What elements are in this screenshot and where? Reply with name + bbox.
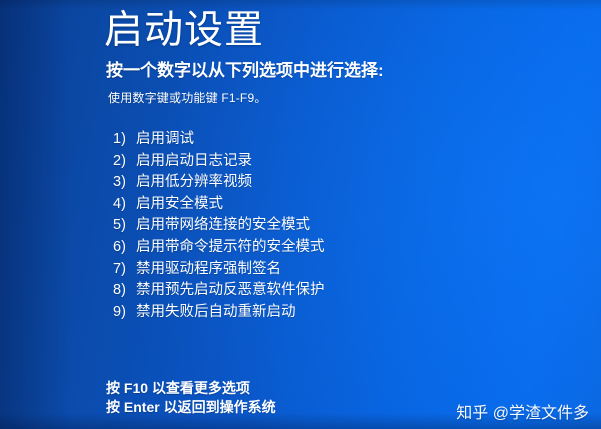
option-item-3[interactable]: 3) 启用低分辨率视频 [113,170,325,192]
option-key-5: 5) [113,217,133,233]
option-label-8: 禁用预先启动反恶意软件保护 [136,278,325,299]
option-label-5: 启用带网络连接的安全模式 [136,213,310,234]
option-item-8[interactable]: 8) 禁用预先启动反恶意软件保护 [113,278,325,300]
option-label-6: 启用带命令提示符的安全模式 [136,235,325,256]
option-item-2[interactable]: 2) 启用启动日志记录 [113,149,325,171]
option-label-2: 启用启动日志记录 [136,149,252,170]
more-options-action[interactable]: 按 F10 以查看更多选项 [106,379,276,398]
option-key-4: 4) [113,196,133,212]
instruction-subtitle: 按一个数字以从下列选项中进行选择: [106,60,384,82]
screen-content: 启动设置 按一个数字以从下列选项中进行选择: 使用数字键或功能键 F1-F9。 … [0,0,601,429]
option-key-1: 1) [113,131,133,147]
option-key-8: 8) [113,282,133,298]
option-key-2: 2) [113,153,133,169]
option-key-7: 7) [113,261,133,277]
option-item-1[interactable]: 1) 启用调试 [113,127,325,149]
option-item-9[interactable]: 9) 禁用失败后自动重新启动 [113,300,325,322]
option-key-3: 3) [113,174,133,190]
option-item-6[interactable]: 6) 启用带命令提示符的安全模式 [113,235,325,257]
option-label-4: 启用安全模式 [136,192,223,213]
option-key-6: 6) [113,239,133,255]
option-key-9: 9) [113,304,133,320]
option-label-1: 启用调试 [136,127,194,148]
startup-settings-screen: 启动设置 按一个数字以从下列选项中进行选择: 使用数字键或功能键 F1-F9。 … [0,0,601,429]
watermark-text: 知乎 @学渣文件多 [456,399,589,423]
return-to-os-action[interactable]: 按 Enter 以返回到操作系统 [106,398,276,417]
option-item-4[interactable]: 4) 启用安全模式 [113,192,325,214]
option-label-7: 禁用驱动程序强制签名 [136,257,281,278]
startup-options-list: 1) 启用调试 2) 启用启动日志记录 3) 启用低分辨率视频 4) 启用安全模… [113,127,325,321]
option-item-5[interactable]: 5) 启用带网络连接的安全模式 [113,213,325,235]
footer-actions: 按 F10 以查看更多选项 按 Enter 以返回到操作系统 [106,379,276,417]
option-label-3: 启用低分辨率视频 [136,170,252,191]
keyboard-hint-text: 使用数字键或功能键 F1-F9。 [108,90,267,106]
option-label-9: 禁用失败后自动重新启动 [136,300,296,321]
option-item-7[interactable]: 7) 禁用驱动程序强制签名 [113,257,325,279]
page-title: 启动设置 [104,8,264,54]
